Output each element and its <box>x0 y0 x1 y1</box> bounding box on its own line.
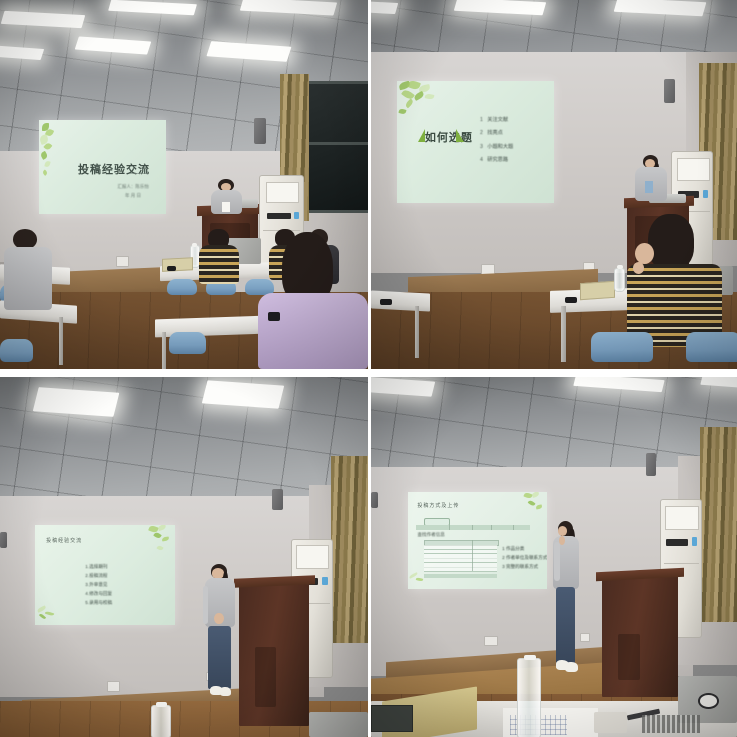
slide-leaf-decoration-bottom-left <box>35 599 71 625</box>
slide-list-item: 2找亮点 <box>480 127 513 140</box>
slide-list: 1关注文献 2找亮点 3小题和大题 4研究思路 <box>480 114 513 167</box>
laptop-keyboard <box>642 715 701 733</box>
desk-leg <box>59 317 63 365</box>
slide-title: 投稿经验交流 <box>78 161 150 177</box>
presenter-face <box>212 568 224 578</box>
slide-leaf-decoration-top-right <box>516 492 547 529</box>
slide-body-line: 1 作品分类 <box>502 544 547 553</box>
form-menu-divider <box>472 525 473 530</box>
desk-leg <box>162 332 166 369</box>
slide-title: 如何选题 <box>425 129 473 145</box>
podium <box>602 575 679 697</box>
podium-front-panel <box>618 634 640 681</box>
slide-list-text: 找亮点 <box>487 130 503 136</box>
collage-panel-bottom-right[interactable]: Presenter facing the screen which shows … <box>371 377 737 737</box>
slide-list-item: 3.外审意见 <box>85 581 112 590</box>
ceiling-light <box>371 1 399 14</box>
form-menu-divider <box>513 525 514 530</box>
listener-hair <box>648 214 694 270</box>
power-outlet <box>484 636 498 646</box>
chair <box>686 332 737 362</box>
laptop-sticker <box>698 693 720 709</box>
form-menu-divider <box>491 525 492 530</box>
air-conditioner-panel <box>677 158 710 181</box>
slide-list-item: 2.投稿流程 <box>85 572 112 581</box>
air-conditioner-panel <box>296 545 330 569</box>
presenter-notes <box>222 202 230 212</box>
slide-subtitle-line2: 年 月 日 <box>125 193 141 199</box>
air-conditioner-badge <box>322 577 327 585</box>
curtain <box>331 456 368 643</box>
slide-list-item: 1关注文献 <box>480 114 513 127</box>
slide-body-line: 3 完整的联系方式 <box>502 562 547 571</box>
slide-list-text: 修改与回复 <box>89 591 112 596</box>
student-torso <box>199 245 239 284</box>
air-conditioner-vent <box>267 213 291 220</box>
window-mullion <box>305 142 368 145</box>
presenter <box>550 521 583 683</box>
projector-screen: 如何选题 1关注文献 2找亮点 3小题和大题 4研究思路 <box>397 81 554 203</box>
air-conditioner-panel <box>665 506 698 530</box>
slide-list-text: 关注文献 <box>487 117 508 123</box>
power-outlet <box>107 681 121 692</box>
student-torso <box>4 247 52 310</box>
notebook <box>580 281 615 300</box>
slide-list-number: 1 <box>85 564 88 569</box>
slide-body-line: 2 作者单位及联系方式 <box>502 553 547 562</box>
air-conditioner-vent <box>666 539 688 546</box>
presenter <box>635 155 670 203</box>
slide-list-number: 2 <box>85 573 88 578</box>
wall-speaker <box>664 79 675 103</box>
slide-title-underline <box>130 173 148 174</box>
slide-list-number: 3 <box>85 582 88 587</box>
podium-front-panel <box>255 647 276 707</box>
slide-subtitle-line1: 汇报人：陈乐怡 <box>117 184 149 190</box>
phone-case <box>594 712 627 734</box>
water-bottle <box>151 705 171 737</box>
air-conditioner-panel <box>266 182 298 203</box>
water-bottle <box>517 658 541 737</box>
chair <box>0 339 33 361</box>
slide-title: 投稿经验交流 <box>46 537 82 544</box>
collage-panel-top-left[interactable]: Lecture room, presenter standing at a wo… <box>0 0 368 369</box>
slide-leaf-decoration-top-right <box>141 525 175 565</box>
window <box>302 81 368 212</box>
curtain <box>700 427 737 621</box>
presenter-notes <box>645 181 653 193</box>
listener-hand <box>633 262 644 274</box>
form-menu-divider <box>449 525 450 530</box>
presenter-shoe <box>220 687 231 695</box>
slide-list-number: 4 <box>85 591 88 596</box>
student-phone <box>268 312 280 322</box>
collage-panel-bottom-left[interactable]: Wide view of the room, presenter standin… <box>0 377 368 737</box>
wall-speaker <box>254 118 266 144</box>
air-conditioner-badge <box>703 190 708 198</box>
slide-title: 投稿方式及上传 <box>417 502 459 509</box>
desk-leg <box>415 306 419 358</box>
wall-vent <box>0 532 7 548</box>
form-table-footer <box>424 574 496 578</box>
slide-title-flag-left <box>418 129 425 142</box>
presenter-arm <box>203 586 208 624</box>
projector-screen: 投稿经验交流 1.选择期刊 2.投稿流程 3.外审意见 4.修改与回复 5.录用… <box>35 525 175 626</box>
desk-leg <box>561 306 565 361</box>
dark-notebook <box>371 705 413 732</box>
presenter-hand <box>214 613 224 624</box>
presenter-jeans <box>556 587 575 663</box>
laptop <box>309 712 368 737</box>
projector-screen: 投稿方式及上传 查找作者信息 1 作品分类 2 作者单位及联系方式 3 完整的联… <box>408 492 547 589</box>
student-lavender-hoodie <box>258 232 368 369</box>
air-conditioner-seam <box>664 563 699 564</box>
form-section-label: 查找作者信息 <box>417 532 445 538</box>
wall-speaker <box>272 489 282 511</box>
projector-screen: 投稿经验交流 汇报人：陈乐怡 年 月 日 <box>39 120 166 214</box>
water-bottle <box>614 268 625 292</box>
slide-leaf-decoration <box>39 120 67 193</box>
slide-list-item: 4研究思路 <box>480 154 513 167</box>
slide-title-flag-right <box>456 129 464 142</box>
slide-list-text: 外审意见 <box>89 582 107 587</box>
photo-collage: Lecture room, presenter standing at a wo… <box>0 0 737 737</box>
slide-list-item: 1.选择期刊 <box>85 563 112 572</box>
presenter <box>202 564 239 701</box>
phone-on-desk <box>167 266 176 270</box>
chair <box>169 332 206 354</box>
form-table-column-divider <box>472 540 473 571</box>
student-torso <box>258 293 368 369</box>
bottle-cap <box>524 655 536 661</box>
air-conditioner-badge <box>294 212 299 220</box>
bottle-cap <box>192 243 197 247</box>
slide-list-number: 5 <box>85 600 88 605</box>
power-outlet <box>116 256 129 266</box>
slide-body-lines: 1 作品分类 2 作者单位及联系方式 3 完整的联系方式 <box>502 544 547 572</box>
slide-list-text: 投稿流程 <box>89 573 107 578</box>
bottle-cap <box>156 702 167 707</box>
student-with-glasses <box>4 229 52 310</box>
air-conditioner-badge <box>692 537 697 545</box>
slide-list: 1.选择期刊 2.投稿流程 3.外审意见 4.修改与回复 5.录用与校稿 <box>85 563 112 608</box>
presenter-jeans <box>208 626 231 689</box>
phone-on-desk <box>380 299 392 305</box>
slide-list-item: 4.修改与回复 <box>85 590 112 599</box>
presenter <box>210 179 243 216</box>
chair <box>167 279 196 296</box>
listener-striped-sweater <box>627 214 722 347</box>
slide-list-item: 5.录用与校稿 <box>85 599 112 608</box>
slide-list-text: 小题和大题 <box>487 144 513 150</box>
presenter-shoe <box>565 662 578 672</box>
presenter-arm <box>554 542 559 581</box>
podium <box>239 582 309 726</box>
student-striped-sweater <box>199 229 239 284</box>
slide-list-text: 录用与校稿 <box>89 600 112 605</box>
chair <box>591 332 653 362</box>
wall-speaker <box>646 453 656 476</box>
slide-list-text: 选择期刊 <box>89 564 107 569</box>
form-table-row <box>424 567 496 572</box>
slide-list-item: 3小题和大题 <box>480 141 513 154</box>
slide-list-text: 研究思路 <box>487 157 508 163</box>
bottle-cap <box>617 265 623 269</box>
phone-on-desk <box>565 297 577 303</box>
wall-vent <box>371 492 378 508</box>
collage-panel-top-right[interactable]: Presenter at podium beside air condition… <box>371 0 737 369</box>
